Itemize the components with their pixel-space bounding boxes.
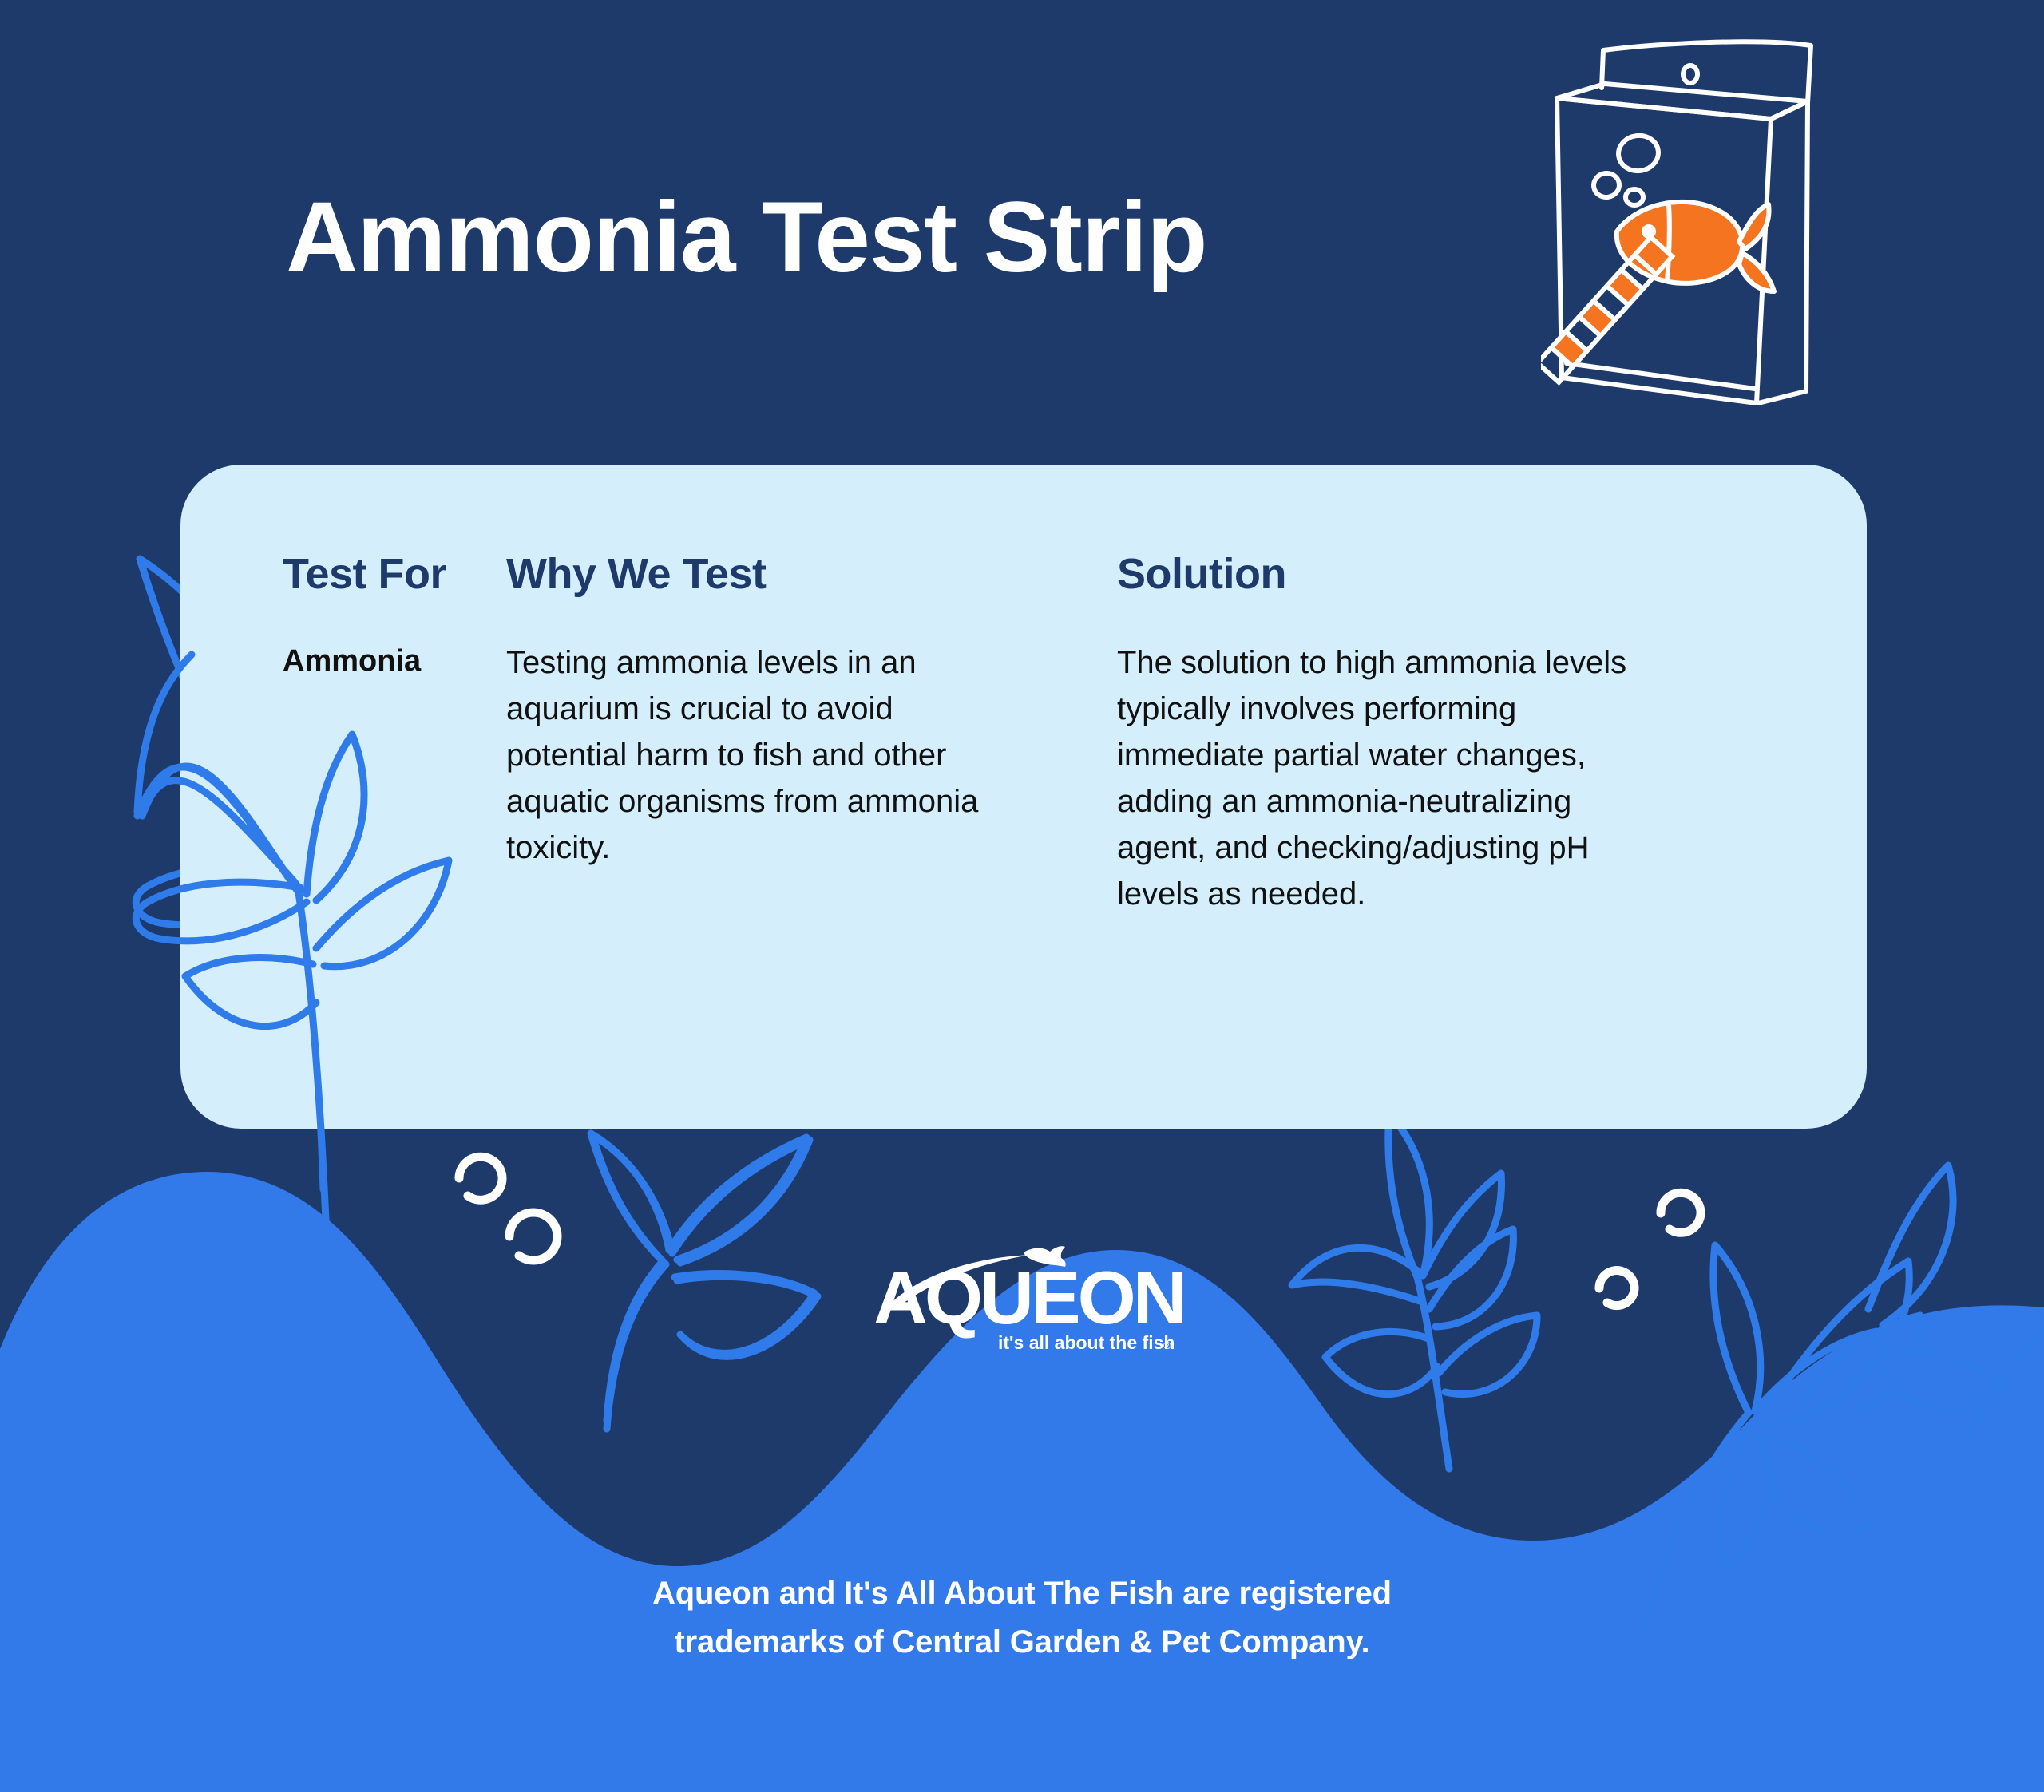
plant-right-edge bbox=[1956, 1325, 2044, 1461]
logo-tagline: it's all about the fish bbox=[998, 1332, 1175, 1353]
footer-line-1: Aqueon and It's All About The Fish are r… bbox=[0, 1569, 2044, 1618]
plant-sprig-center bbox=[592, 1135, 818, 1429]
bubble-icon-2 bbox=[509, 1212, 557, 1260]
box-bottom-edge bbox=[1567, 363, 1755, 389]
logo-registered-mark: ® bbox=[1167, 1311, 1177, 1325]
box-hang-hole bbox=[1683, 65, 1697, 83]
column-heading-solution: Solution bbox=[1117, 551, 1716, 598]
plant-sprig-center-left bbox=[591, 1133, 814, 1421]
logo-wordmark: AQUEON bbox=[873, 1256, 1184, 1339]
column-solution: Solution The solution to high ammonia le… bbox=[1109, 551, 1716, 1129]
infographic-canvas: Ammonia Test Strip bbox=[0, 0, 2044, 1792]
plant-right-a bbox=[1292, 1114, 1537, 1469]
footer-line-2: trademarks of Central Garden & Pet Compa… bbox=[0, 1618, 2044, 1667]
column-heading-test-for: Test For bbox=[283, 551, 506, 598]
bubble-small-icon bbox=[1626, 189, 1643, 205]
aqueon-logo: AQUEON ® it's all about the fish ® bbox=[873, 1245, 1193, 1359]
box-bubbles-group bbox=[1592, 133, 1661, 205]
column-body-test-for: Ammonia bbox=[283, 639, 506, 683]
column-test-for: Test For Ammonia bbox=[180, 551, 506, 1129]
bubble-large-icon bbox=[1616, 133, 1661, 174]
plant-right-b bbox=[1645, 1165, 2000, 1628]
column-why-we-test: Why We Test Testing ammonia levels in an… bbox=[506, 551, 1109, 1129]
bubble-icon-1 bbox=[459, 1157, 502, 1200]
column-body-solution: The solution to high ammonia levels typi… bbox=[1117, 639, 1628, 917]
info-card: Test For Ammonia Why We Test Testing amm… bbox=[180, 465, 1867, 1129]
bubble-icon-4 bbox=[1599, 1271, 1634, 1306]
column-body-why-we-test: Testing ammonia levels in an aquarium is… bbox=[506, 639, 1017, 871]
column-heading-why-we-test: Why We Test bbox=[506, 551, 1109, 598]
bubble-icon-3 bbox=[1661, 1193, 1701, 1232]
footer-legal-text: Aqueon and It's All About The Fish are r… bbox=[0, 1569, 2044, 1667]
logo-tagline-mark: ® bbox=[1163, 1339, 1171, 1351]
test-strip-box-illustration bbox=[1541, 28, 1844, 427]
bubble-medium-icon bbox=[1592, 172, 1621, 199]
page-title: Ammonia Test Strip bbox=[286, 185, 1206, 290]
